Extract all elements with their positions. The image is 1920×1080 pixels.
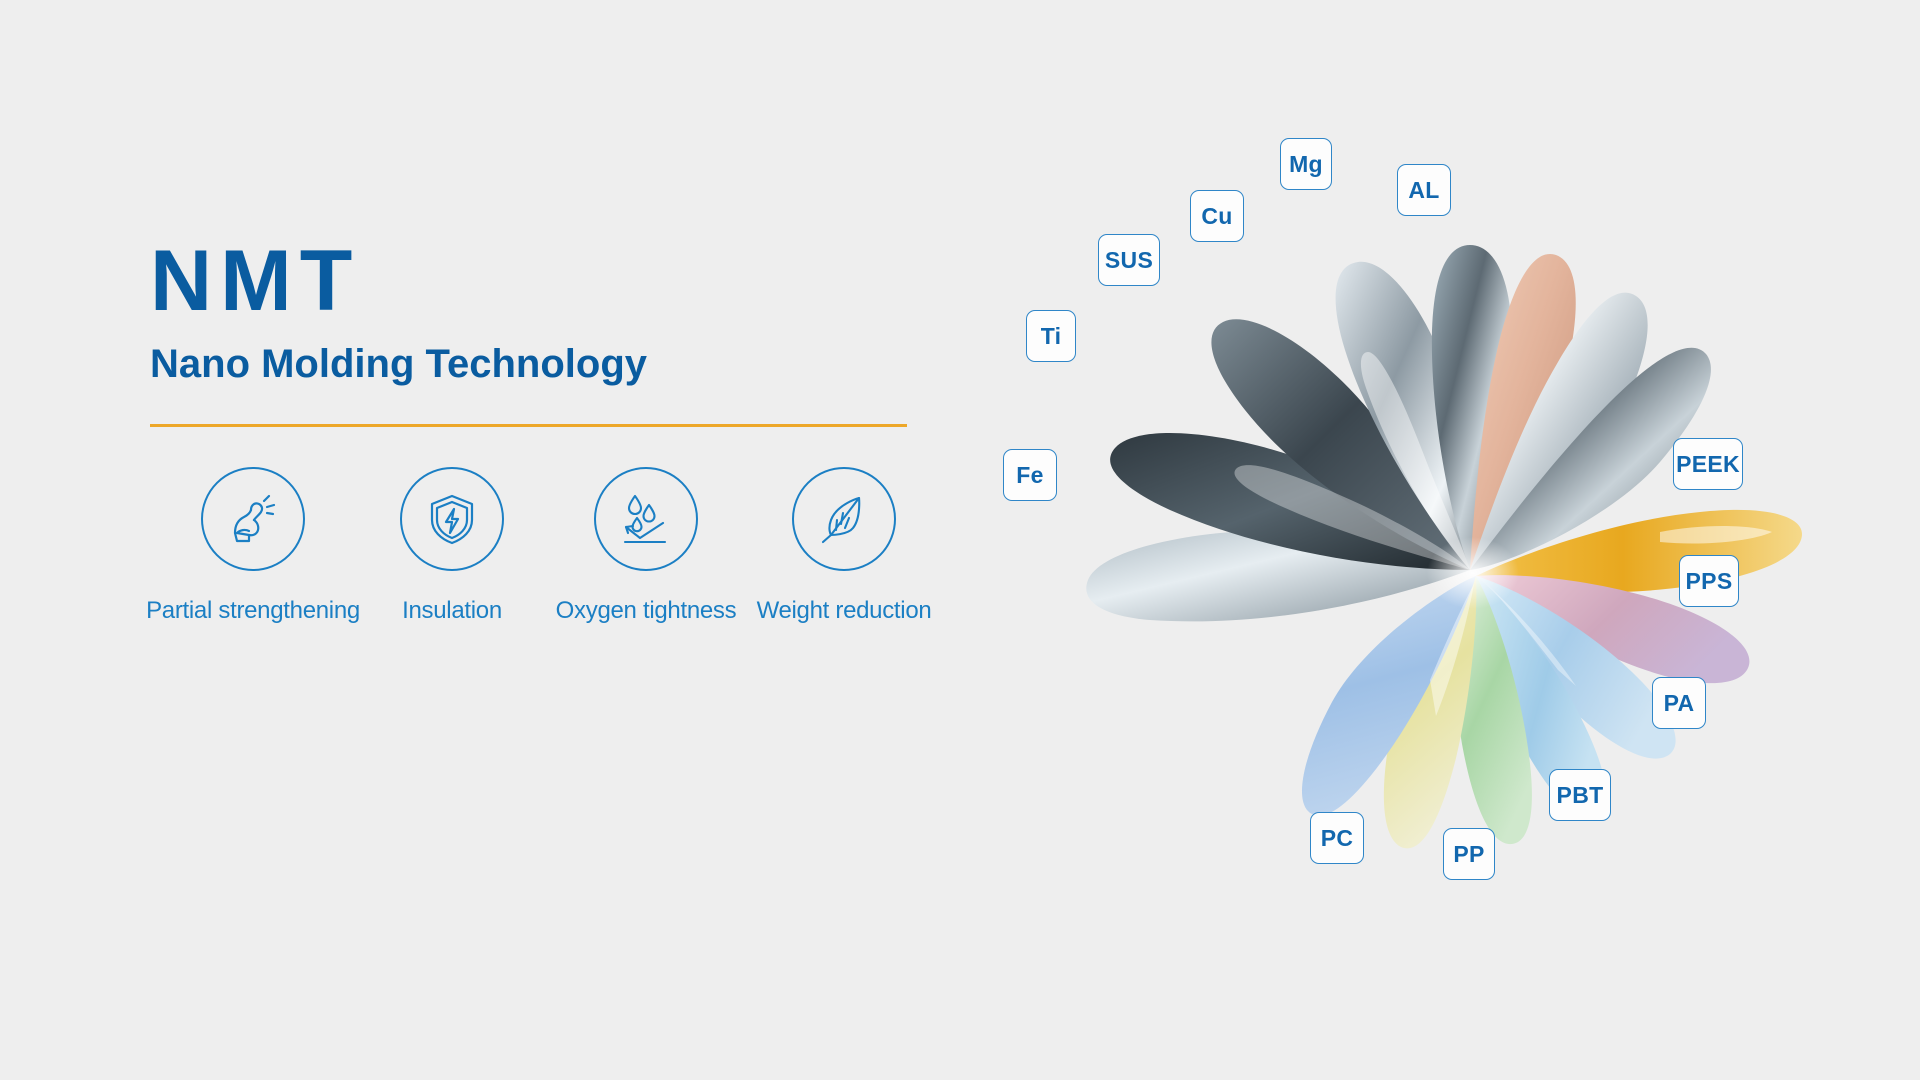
badge-pc[interactable]: PC <box>1310 812 1364 864</box>
feature-label: Partial strengthening <box>146 597 360 625</box>
feature-insulation: Insulation <box>356 467 548 625</box>
shield-bolt-icon <box>400 467 504 571</box>
badge-cu[interactable]: Cu <box>1190 190 1244 242</box>
badge-pps[interactable]: PPS <box>1679 555 1739 607</box>
page-title: NMT <box>150 238 970 324</box>
badge-peek[interactable]: PEEK <box>1673 438 1743 490</box>
metal-plastic-fan-diagram: Mg AL Cu SUS Ti Fe PEEK PPS PA PBT PP PC <box>960 80 1920 1040</box>
feature-partial-strengthening: Partial strengthening <box>150 467 356 625</box>
divider <box>150 424 907 427</box>
badge-sus[interactable]: SUS <box>1098 234 1160 286</box>
feature-weight-reduction: Weight reduction <box>744 467 944 625</box>
badge-fe[interactable]: Fe <box>1003 449 1057 501</box>
badge-pbt[interactable]: PBT <box>1549 769 1611 821</box>
water-droplets-repel-icon <box>594 467 698 571</box>
feather-icon <box>792 467 896 571</box>
badge-pa[interactable]: PA <box>1652 677 1706 729</box>
badge-ti[interactable]: Ti <box>1026 310 1076 362</box>
flexed-bicep-icon <box>201 467 305 571</box>
feature-label: Insulation <box>402 597 502 625</box>
feature-label: Weight reduction <box>757 597 932 625</box>
feature-list: Partial strengthening Insulation <box>150 467 970 625</box>
page-subtitle: Nano Molding Technology <box>150 342 970 386</box>
core-glow <box>1427 537 1519 609</box>
feature-oxygen-tightness: Oxygen tightness <box>548 467 744 625</box>
badge-mg[interactable]: Mg <box>1280 138 1332 190</box>
fan-illustration <box>960 80 1920 1040</box>
badge-al[interactable]: AL <box>1397 164 1451 216</box>
feature-label: Oxygen tightness <box>556 597 737 625</box>
badge-pp[interactable]: PP <box>1443 828 1495 880</box>
intro-panel: NMT Nano Molding Technology Partial stre… <box>150 238 970 625</box>
